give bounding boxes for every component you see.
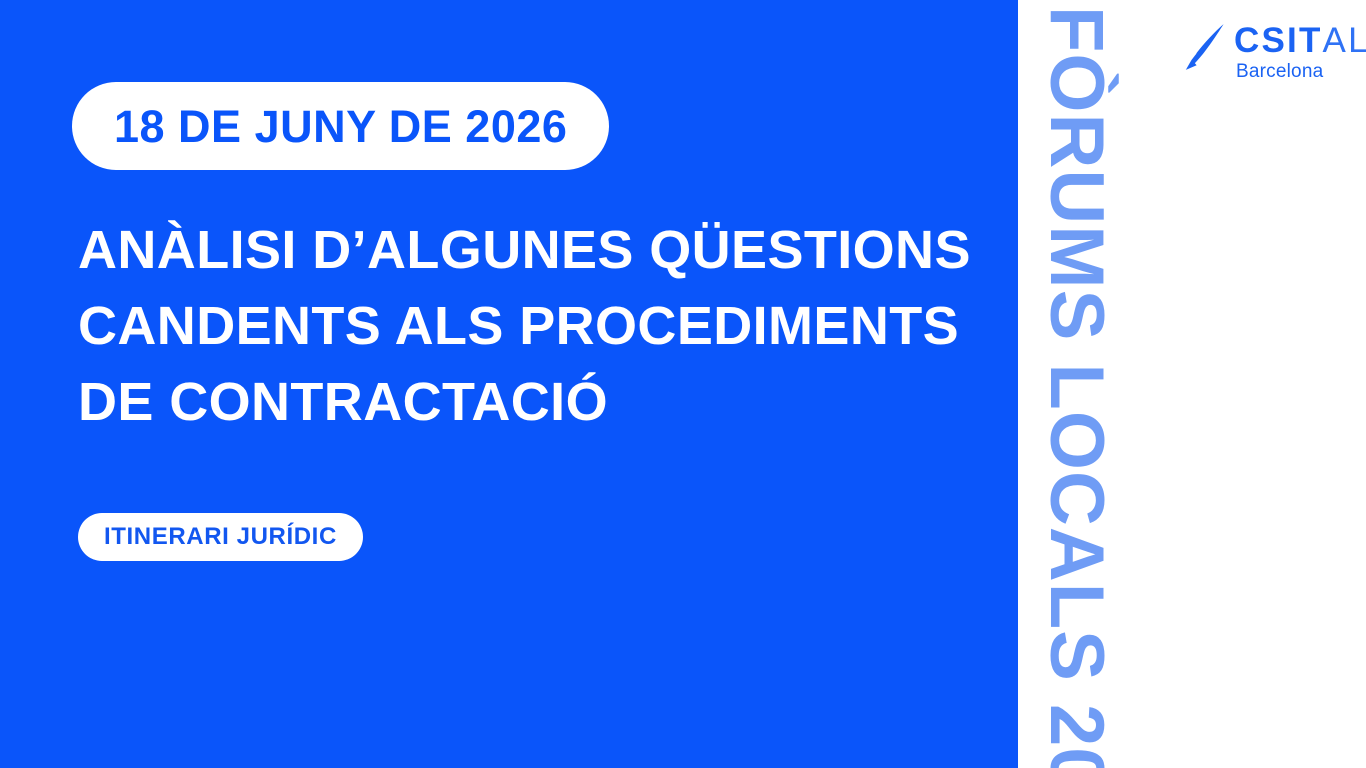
logo-wordmark-light: AL	[1323, 21, 1366, 60]
itinerary-badge: ITINERARI JURÍDIC	[78, 513, 363, 561]
date-badge-label: 18 DE JUNY DE 2026	[114, 104, 567, 149]
presentation-slide: 18 DE JUNY DE 2026 ANÀLISI D’ALGUNES QÜE…	[0, 0, 1366, 768]
slide-title-line-3: DE CONTRACTACIÓ	[78, 364, 958, 440]
sidebar-series-label: FÒRUMS LOCALS 2026	[1038, 6, 1114, 768]
slide-title: ANÀLISI D’ALGUNES QÜESTIONS CANDENTS ALS…	[78, 212, 958, 440]
sidebar-series-label-area: FÒRUMS LOCALS 2026	[1018, 0, 1128, 768]
slide-title-line-2: CANDENTS ALS PROCEDIMENTS	[78, 288, 958, 364]
logo-text-block: CSITAL Barcelona	[1234, 22, 1366, 83]
quill-pen-icon	[1182, 22, 1228, 72]
logo-wordmark: CSITAL	[1234, 23, 1366, 59]
itinerary-badge-label: ITINERARI JURÍDIC	[104, 525, 337, 549]
logo-wordmark-strong: CSIT	[1234, 21, 1323, 60]
logo-subtitle: Barcelona	[1234, 61, 1323, 83]
slide-title-line-1: ANÀLISI D’ALGUNES QÜESTIONS	[78, 212, 958, 288]
csital-logo: CSITAL Barcelona	[1182, 22, 1366, 83]
date-badge: 18 DE JUNY DE 2026	[72, 82, 609, 170]
